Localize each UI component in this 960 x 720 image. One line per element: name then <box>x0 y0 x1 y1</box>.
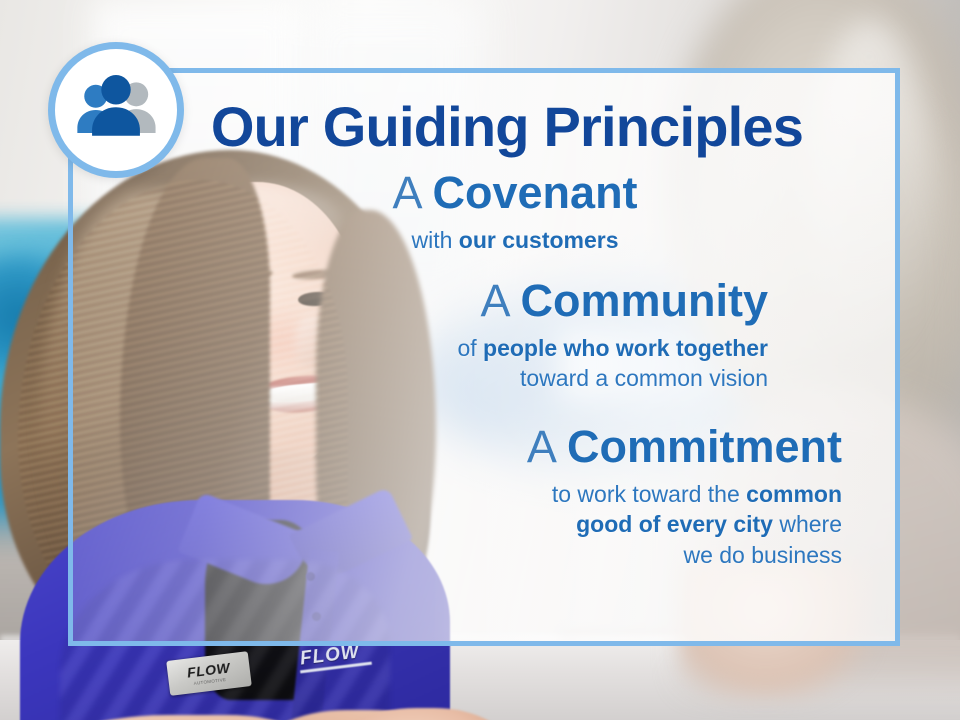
page-title: Our Guiding Principles <box>148 98 866 155</box>
principle-lead-line: A Community <box>68 277 768 326</box>
principle-keyword: Commitment <box>567 421 842 472</box>
banner-graphic: FLOW AUTOMOTIVE FLOW <box>0 0 960 720</box>
principle-lead-line: A Commitment <box>68 423 842 472</box>
principle-lead-line: A Covenant <box>164 169 866 218</box>
subtext-segment-bold: our customers <box>459 227 619 253</box>
subtext-line: to work toward the common <box>68 479 842 509</box>
principle-article: A <box>392 167 420 218</box>
subtext-line: we do business <box>68 540 842 570</box>
subtext-segment: of <box>457 335 483 361</box>
principle-community: A Community of people who work together … <box>68 277 866 393</box>
principle-keyword: Community <box>521 275 769 326</box>
subtext-line: with our customers <box>164 225 866 255</box>
subtext-segment: with <box>411 227 458 253</box>
subtext-segment-bold: good of every city <box>576 511 773 537</box>
subtext-segment: toward a common vision <box>520 365 768 391</box>
principle-keyword: Covenant <box>433 167 638 218</box>
subtext-segment-bold: people who work together <box>483 335 768 361</box>
text-content: Our Guiding Principles A Covenant with o… <box>68 68 900 646</box>
principle-subtext: of people who work together toward a com… <box>68 333 768 394</box>
people-group-icon <box>70 64 162 156</box>
principle-commitment: A Commitment to work toward the common g… <box>68 423 866 570</box>
subtext-line: of people who work together <box>68 333 768 363</box>
subtext-segment-bold: common <box>746 481 842 507</box>
subtext-segment: to work toward the <box>552 481 746 507</box>
subtext-segment: we do business <box>683 542 842 568</box>
principle-covenant: A Covenant with our customers <box>68 169 866 255</box>
principle-article: A <box>480 275 508 326</box>
principle-article: A <box>527 421 555 472</box>
principle-subtext: with our customers <box>164 225 866 255</box>
subtext-line: toward a common vision <box>68 363 768 393</box>
people-group-icon-badge <box>48 42 184 178</box>
subtext-segment: where <box>773 511 842 537</box>
principle-subtext: to work toward the common good of every … <box>68 479 842 570</box>
subtext-line: good of every city where <box>68 509 842 539</box>
